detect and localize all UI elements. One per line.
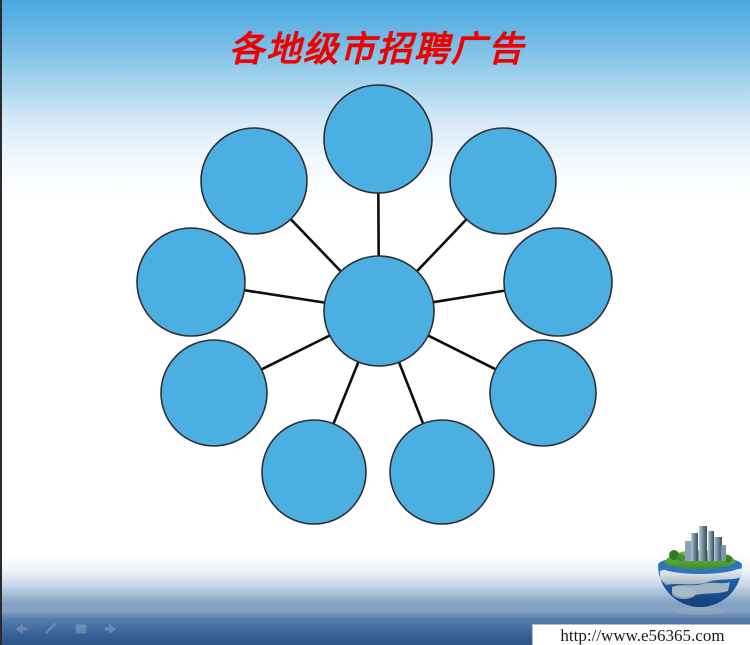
center-node[interactable] <box>324 256 434 366</box>
node-top-right[interactable] <box>450 128 556 234</box>
nav-forward-icon[interactable] <box>102 621 120 637</box>
diagram-nodes <box>137 85 612 524</box>
spoke-node-right-lower <box>428 336 495 370</box>
earth-city-graphic <box>650 521 750 621</box>
node-bottom-right[interactable] <box>390 420 494 524</box>
watermark-url-box: http://www.e56365.com <box>532 624 750 645</box>
globe-building <box>714 537 722 561</box>
spoke-node-bottom-left <box>333 362 358 424</box>
nav-pen-icon[interactable] <box>42 621 60 637</box>
spoke-node-left-upper <box>244 290 324 302</box>
nav-back-icon[interactable] <box>12 621 30 637</box>
spoke-node-right-upper <box>433 291 504 303</box>
globe-tree <box>677 554 685 562</box>
globe-building <box>691 533 698 561</box>
globe-building <box>685 541 691 561</box>
node-left-upper[interactable] <box>137 228 245 336</box>
node-left-lower[interactable] <box>161 340 267 446</box>
globe-building <box>699 526 707 561</box>
globe-building <box>721 545 726 561</box>
nav-menu-icon[interactable] <box>72 621 90 637</box>
presentation-nav-controls[interactable] <box>12 621 120 637</box>
presentation-slide: 各地级市招聘广告 <box>0 0 750 645</box>
spoke-node-top-left <box>291 219 341 271</box>
globe-building <box>708 531 714 561</box>
spoke-node-top-right <box>417 219 466 271</box>
node-right-lower[interactable] <box>490 340 596 446</box>
node-right-upper[interactable] <box>504 228 612 336</box>
watermark-url-text: http://www.e56365.com <box>560 626 724 645</box>
spoke-node-bottom-right <box>399 362 423 423</box>
spoke-node-left-lower <box>261 335 329 369</box>
node-top-left[interactable] <box>201 128 307 234</box>
hub-and-spoke-diagram <box>2 0 750 645</box>
node-bottom-left[interactable] <box>262 420 366 524</box>
node-top[interactable] <box>324 85 432 193</box>
globe-reflection <box>674 607 726 615</box>
